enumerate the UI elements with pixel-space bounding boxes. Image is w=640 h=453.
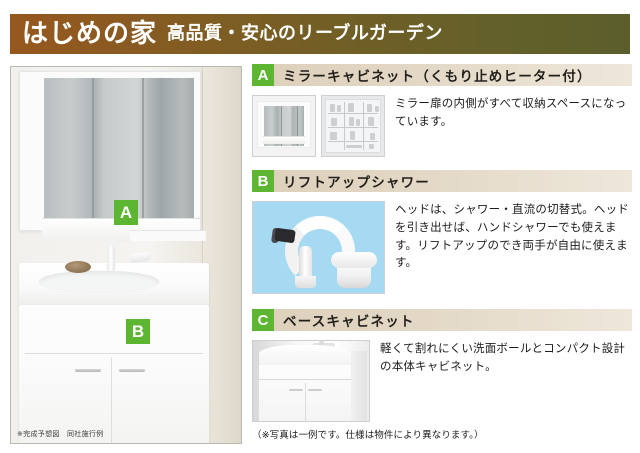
thumb-a2-frame: [325, 99, 381, 153]
section-a-title: ミラーキャビネット（くもり止めヒーター付）: [283, 64, 592, 86]
thumb-a2-item: [375, 106, 379, 112]
thumb-c-door-seam: [305, 383, 306, 422]
photo-wash-basin: [39, 271, 159, 293]
thumb-a2-item: [349, 117, 354, 126]
thumb-c-handle-left: [289, 389, 303, 391]
thumb-c-basin-top: [259, 345, 351, 367]
photo-mirror-seam-left: [92, 78, 94, 218]
feature-sections: A ミラーキャビネット（くもり止めヒーター付）: [252, 64, 632, 422]
thumb-a2-item: [370, 133, 375, 140]
section-c-text: 軽くて割れにくい洗面ボールとコンパクト設計の本体キャビネット。: [380, 340, 632, 422]
section-c-badge: C: [252, 309, 274, 331]
section-a-thumbs: [252, 95, 385, 157]
section-a: A ミラーキャビネット（くもり止めヒーター付）: [252, 64, 632, 157]
thumb-a2-item: [331, 118, 337, 126]
thumb-a1-cabinet-body: [257, 101, 311, 148]
thumb-a2-item: [368, 117, 374, 126]
thumb-c-cabinet-body: [259, 365, 351, 422]
page-subtitle: 高品質・安心のリーブルガーデン: [167, 25, 443, 43]
thumb-b-shower-head: [274, 228, 296, 244]
photo-soap-dish: [65, 261, 91, 273]
photo-mirror-cabinet: [19, 71, 201, 231]
section-a-body: ミラー扉の内側がすべて収納スペースになっています。: [252, 86, 632, 157]
thumb-a2-divider-1: [344, 102, 345, 150]
thumb-a2-divider-2: [363, 102, 364, 150]
photo-drawer-seam: [25, 353, 203, 354]
section-b-header: B リフトアップシャワー: [252, 170, 632, 192]
thumb-mirror-cabinet-open: [321, 95, 385, 157]
photo-mirror-seam-right: [142, 78, 144, 218]
thumb-a2-item: [330, 132, 337, 140]
photo-badge-b: B: [126, 319, 150, 344]
thumb-c-handle-right: [308, 389, 322, 391]
main-vanity-photo: A B C ※完成予想図 同社施行例: [10, 66, 242, 444]
thumb-a2-item: [369, 144, 374, 149]
thumb-b-mixer-lever: [331, 252, 377, 268]
thumb-a2-item: [337, 105, 341, 112]
section-c-body: 軽くて割れにくい洗面ボールとコンパクト設計の本体キャビネット。: [252, 331, 632, 422]
section-c-title: ベースキャビネット: [283, 309, 415, 331]
section-c-header: C ベースキャビネット: [252, 309, 632, 331]
photo-mirror-surface: [44, 78, 194, 218]
photo-door-handle-left: [75, 369, 101, 372]
section-c: C ベースキャビネット 軽くて割れ: [252, 309, 632, 422]
photo-badge-a: A: [114, 200, 138, 225]
footnote: （※写真は一例です。仕様は物件により異なります。）: [252, 427, 484, 441]
thumb-a2-shelf-2: [328, 127, 378, 128]
section-b-badge: B: [252, 170, 274, 192]
section-b-body: ヘッドは、シャワー・直流の切替式。ヘッドを引き出せば、ハンドシャワーでも使えます…: [252, 192, 632, 294]
section-b: B リフトアップシャワー ヘッドは、シャワー・直流の切替式。ヘッドを引き出せば、…: [252, 170, 632, 294]
section-b-thumbs: [252, 201, 385, 294]
photo-door-handle-right: [119, 369, 145, 372]
thumb-c-drawer-seam: [259, 379, 351, 380]
section-b-text: ヘッドは、シャワー・直流の切替式。ヘッドを引き出せば、ハンドシャワーでも使えます…: [395, 201, 632, 294]
photo-caption: ※完成予想図 同社施行例: [17, 429, 103, 439]
thumb-a2-shelf-1: [328, 113, 378, 114]
thumb-a1-shelf: [263, 136, 305, 144]
photo-mirror-shelf-lower: [130, 230, 206, 241]
thumb-lift-up-shower-faucet: [252, 201, 385, 294]
section-b-title: リフトアップシャワー: [283, 170, 430, 192]
thumb-a2-item: [367, 104, 372, 112]
photo-door-seam: [111, 357, 112, 444]
photo-faucet-head: [104, 239, 120, 247]
thumb-a2-item: [350, 131, 355, 140]
section-c-thumbs: [252, 340, 370, 422]
thumb-a2-item: [356, 119, 360, 126]
thumb-base-cabinet: [252, 340, 370, 422]
page-header-band: はじめの家 高品質・安心のリーブルガーデン: [10, 14, 630, 54]
page-title: はじめの家: [22, 21, 157, 47]
photo-faucet-spout: [107, 243, 115, 271]
thumb-b-spout-base: [295, 276, 316, 288]
section-a-badge: A: [252, 64, 274, 86]
thumb-a2-item: [346, 145, 362, 148]
thumb-a2-item: [330, 104, 335, 112]
section-a-header: A ミラーキャビネット（くもり止めヒーター付）: [252, 64, 632, 86]
section-a-text: ミラー扉の内側がすべて収納スペースになっています。: [395, 95, 632, 157]
thumb-a2-item: [348, 103, 354, 112]
thumb-c-cabinet-side: [351, 351, 367, 422]
thumb-a2-shelf-3: [328, 141, 378, 142]
thumb-mirror-cabinet-closed: [252, 95, 316, 157]
photo-base-cabinet: [19, 305, 209, 444]
